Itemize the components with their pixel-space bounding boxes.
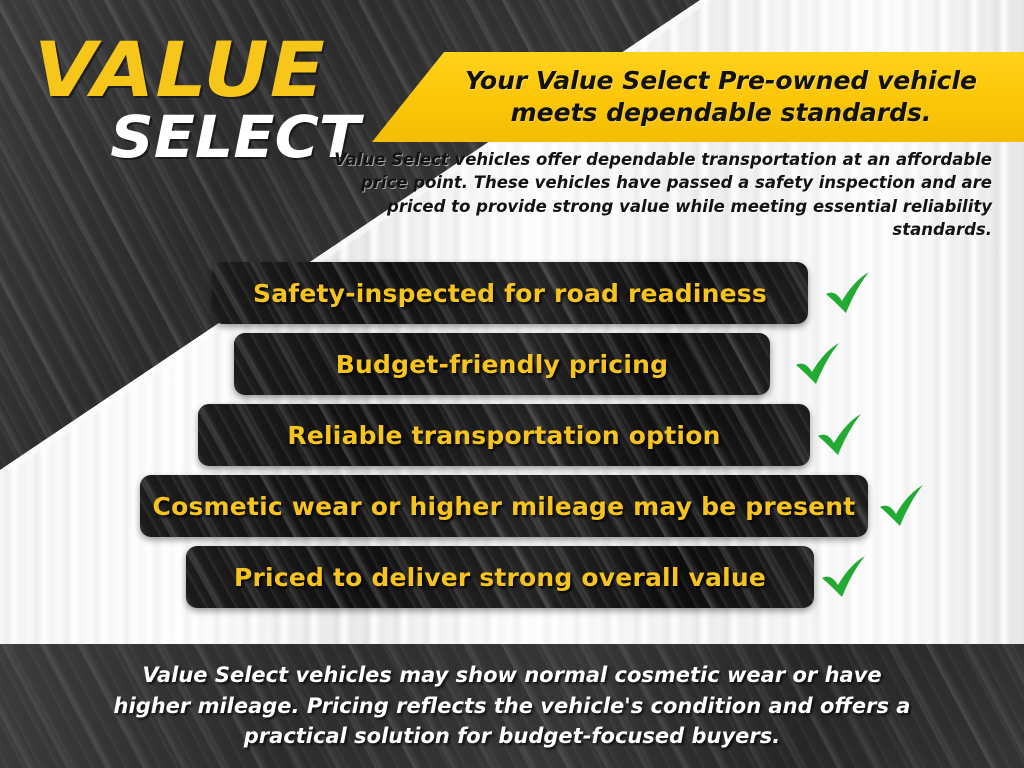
headline-text: Your Value Select Pre-owned vehicle meet… (372, 65, 1024, 129)
feature-label: Priced to deliver strong overall value (220, 563, 780, 592)
feature-label: Cosmetic wear or higher mileage may be p… (139, 492, 870, 521)
check-icon (814, 410, 866, 460)
feature-label: Budget-friendly pricing (322, 350, 682, 379)
feature-bar: Cosmetic wear or higher mileage may be p… (140, 475, 868, 537)
feature-row: Budget-friendly pricing (0, 329, 1024, 400)
value-select-poster: VALUE SELECT Your Value Select Pre-owned… (0, 0, 1024, 768)
feature-row: Reliable transportation option (0, 400, 1024, 471)
check-icon (792, 339, 844, 389)
feature-label: Reliable transportation option (273, 421, 734, 450)
intro-paragraph: Value Select vehicles offer dependable t… (330, 148, 992, 242)
feature-row: Priced to deliver strong overall value (0, 542, 1024, 613)
logo-word-value: VALUE (34, 34, 373, 106)
footer-disclaimer-band: Value Select vehicles may show normal co… (0, 644, 1024, 768)
feature-bar: Priced to deliver strong overall value (186, 546, 814, 608)
feature-row: Safety-inspected for road readiness (0, 258, 1024, 329)
check-icon (822, 268, 874, 318)
brand-logo: VALUE SELECT (34, 34, 354, 166)
headline-banner: Your Value Select Pre-owned vehicle meet… (372, 52, 1024, 142)
feature-bar: Reliable transportation option (198, 404, 810, 466)
feature-label: Safety-inspected for road readiness (239, 279, 781, 308)
check-icon (818, 552, 870, 602)
feature-row: Cosmetic wear or higher mileage may be p… (0, 471, 1024, 542)
feature-list: Safety-inspected for road readiness Budg… (0, 258, 1024, 613)
logo-word-select: SELECT (21, 108, 360, 166)
check-icon (876, 481, 928, 531)
footer-disclaimer-text: Value Select vehicles may show normal co… (102, 660, 922, 751)
feature-bar: Budget-friendly pricing (234, 333, 770, 395)
feature-bar: Safety-inspected for road readiness (212, 262, 808, 324)
